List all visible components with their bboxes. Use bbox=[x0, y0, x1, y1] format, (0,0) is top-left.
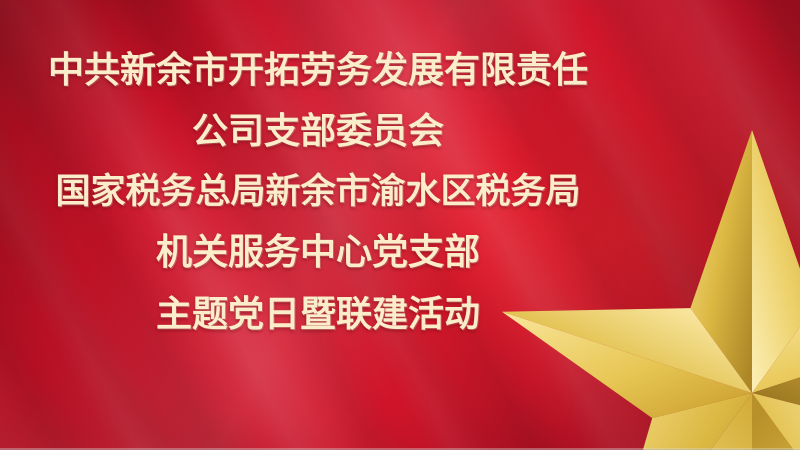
organization-line-1: 中共新余市开拓劳务发展有限责任 bbox=[48, 52, 588, 88]
event-title: 主题党日暨联建活动 bbox=[156, 296, 480, 332]
organization-line-4: 机关服务中心党支部 bbox=[156, 234, 480, 270]
organization-line-2: 公司支部委员会 bbox=[192, 113, 444, 149]
title-block: 中共新余市开拓劳务发展有限责任 公司支部委员会 国家税务总局新余市渝水区税务局 … bbox=[0, 0, 636, 450]
poster-canvas: 中共新余市开拓劳务发展有限责任 公司支部委员会 国家税务总局新余市渝水区税务局 … bbox=[0, 0, 800, 450]
organization-line-3: 国家税务总局新余市渝水区税务局 bbox=[55, 174, 580, 209]
